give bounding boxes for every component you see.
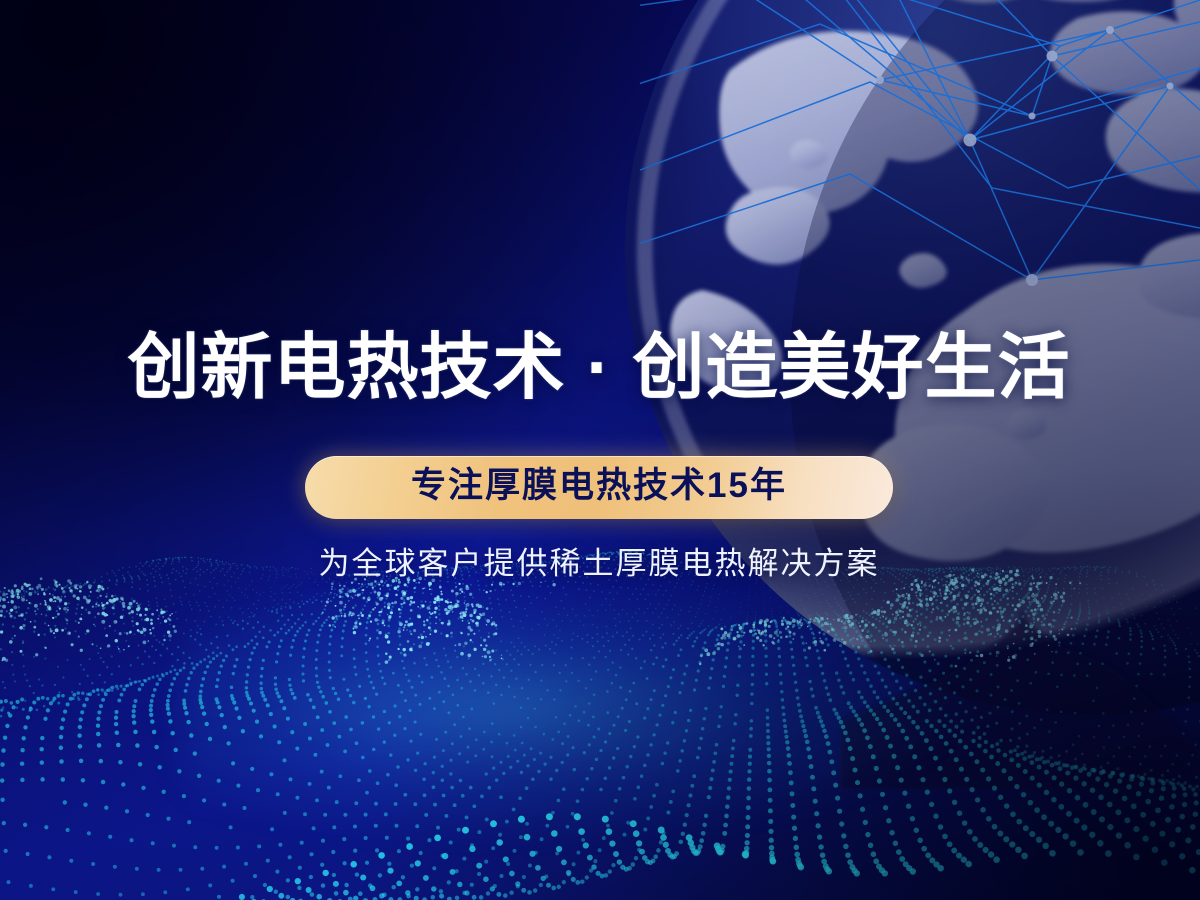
page-title: 创新电热技术 · 创造美好生活 (0, 332, 1198, 404)
badge-row: 专注厚膜电热技术15年 (0, 456, 1198, 519)
hero-banner: 创新电热技术 · 创造美好生活 专注厚膜电热技术15年 为全球客户提供稀土厚膜电… (0, 0, 1200, 900)
experience-badge: 专注厚膜电热技术15年 (305, 456, 893, 519)
page-subtitle: 为全球客户提供稀土厚膜电热解决方案 (0, 545, 1198, 582)
banner-content: 创新电热技术 · 创造美好生活 专注厚膜电热技术15年 为全球客户提供稀土厚膜电… (0, 0, 1200, 900)
